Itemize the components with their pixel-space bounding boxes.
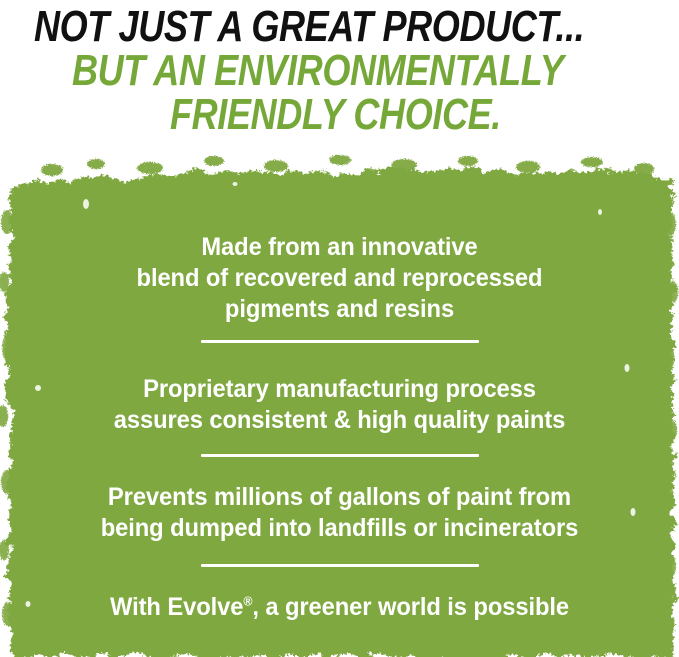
list-item: Made from an innovative blend of recover… — [17, 232, 662, 325]
bullet-4-prefix: With Evolve — [110, 593, 243, 621]
panel-content: Made from an innovative blend of recover… — [0, 152, 679, 657]
list-item: Proprietary manufacturing process assure… — [17, 374, 662, 436]
headline-line-3: FRIENDLY CHOICE. — [170, 90, 501, 140]
headline-line-1: NOT JUST A GREAT PRODUCT... — [34, 2, 584, 52]
registered-trademark-icon: ® — [243, 594, 252, 609]
bullet-3-line-1: Prevents millions of gallons of paint fr… — [108, 483, 571, 511]
headline-line-2: BUT AN ENVIRONMENTALLY — [72, 46, 563, 96]
bullet-4-suffix: , a greener world is possible — [252, 593, 569, 621]
bullet-1-line-3: pigments and resins — [225, 295, 454, 323]
bullet-1-line-2: blend of recovered and reprocessed — [137, 264, 543, 292]
divider-1 — [201, 340, 479, 343]
headline-block: NOT JUST A GREAT PRODUCT... BUT AN ENVIR… — [0, 0, 679, 150]
divider-3 — [201, 564, 479, 567]
bullet-1-line-1: Made from an innovative — [201, 233, 477, 261]
bullet-2-line-2: assures consistent & high quality paints — [114, 406, 566, 434]
bullet-3-line-2: being dumped into landfills or incinerat… — [101, 514, 579, 542]
list-item: With Evolve®, a greener world is possibl… — [17, 592, 662, 623]
list-item: Prevents millions of gallons of paint fr… — [17, 482, 662, 544]
bullet-2-line-1: Proprietary manufacturing process — [143, 375, 536, 403]
divider-2 — [201, 454, 479, 457]
